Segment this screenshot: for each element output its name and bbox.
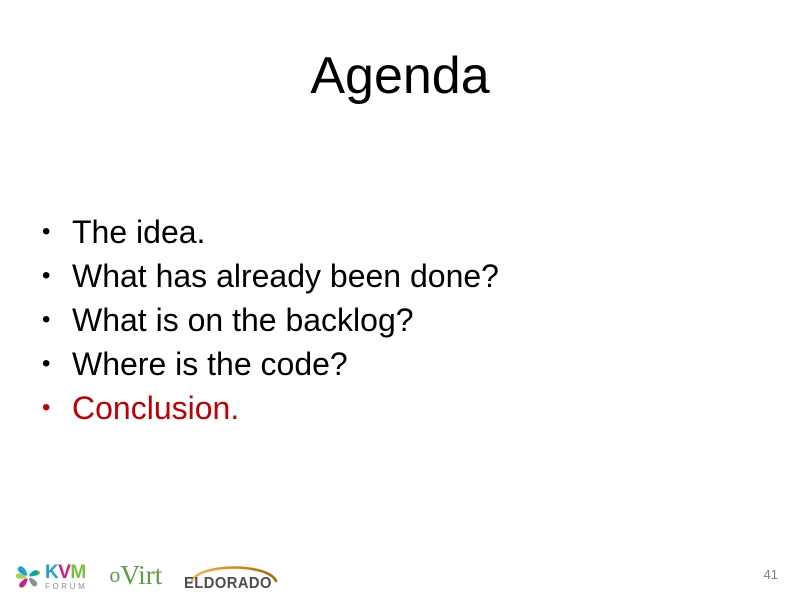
kvm-forum-logo: K V M FORUM <box>14 560 87 594</box>
list-item-highlighted: • Conclusion. <box>42 392 722 424</box>
logo-strip: K V M FORUM oVirt <box>14 558 284 594</box>
list-item: • What has already been done? <box>42 260 722 292</box>
list-item-label: Conclusion. <box>72 392 239 424</box>
kvm-letter-k: K <box>45 563 58 582</box>
page-number: 41 <box>764 567 778 582</box>
ovirt-logo-lead: o <box>109 564 120 586</box>
ovirt-logo-rest: Virt <box>120 562 162 589</box>
bullet-icon: • <box>42 396 72 420</box>
list-item: • The idea. <box>42 216 722 248</box>
bullet-list: • The idea. • What has already been done… <box>42 216 722 436</box>
kvm-letters: K V M <box>45 563 87 582</box>
bullet-icon: • <box>42 220 72 244</box>
list-item: • What is on the backlog? <box>42 304 722 336</box>
slide-footer: K V M FORUM oVirt <box>0 538 800 600</box>
list-item: • Where is the code? <box>42 348 722 380</box>
eldorado-logo: ELDORADO <box>184 560 284 594</box>
slide: Agenda • The idea. • What has already be… <box>0 0 800 600</box>
page-title: Agenda <box>0 48 800 105</box>
kvm-letter-v: V <box>58 563 70 582</box>
bullet-icon: • <box>42 308 72 332</box>
bullet-icon: • <box>42 352 72 376</box>
kvm-forum-subtitle: FORUM <box>45 583 87 591</box>
list-item-label: What is on the backlog? <box>72 304 414 336</box>
list-item-label: Where is the code? <box>72 348 348 380</box>
eldorado-wordmark: ELDORADO <box>184 575 272 593</box>
ovirt-logo: oVirt <box>109 558 162 594</box>
list-item-label: The idea. <box>72 216 205 248</box>
list-item-label: What has already been done? <box>72 260 499 292</box>
kvm-letter-m: M <box>70 563 85 582</box>
bullet-icon: • <box>42 264 72 288</box>
kvm-wordmark: K V M FORUM <box>45 563 87 591</box>
pinwheel-icon <box>14 562 42 592</box>
